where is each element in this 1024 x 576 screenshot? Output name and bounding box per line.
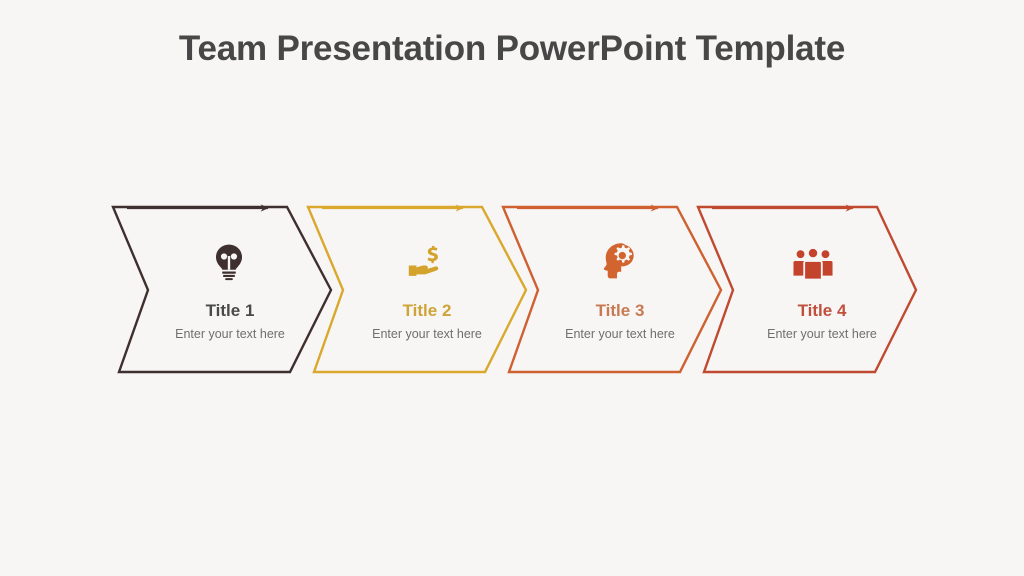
- step-description-1: Enter your text here: [130, 325, 330, 343]
- chevron-shape-step-1[interactable]: [113, 207, 331, 372]
- step-description-3: Enter your text here: [520, 325, 720, 343]
- step-text-2: Title 2 Enter your text here: [327, 299, 527, 343]
- chevron-shape-step-3[interactable]: [503, 207, 721, 372]
- head-gear-icon: [597, 240, 641, 284]
- step-title-1: Title 1: [130, 299, 330, 323]
- step-title-3: Title 3: [520, 299, 720, 323]
- step-text-3: Title 3 Enter your text here: [520, 299, 720, 343]
- step-text-1: Title 1 Enter your text here: [130, 299, 330, 343]
- step-title-4: Title 4: [722, 299, 922, 323]
- hand-holding-dollar-icon: [404, 242, 448, 286]
- chevron-shape-step-2[interactable]: [308, 207, 526, 372]
- chevron-shape-step-4[interactable]: [698, 207, 916, 372]
- people-group-icon: [791, 243, 835, 287]
- step-description-4: Enter your text here: [722, 325, 922, 343]
- chevron-process-diagram: Title 1 Enter your text here Title 2 Ent…: [0, 0, 1024, 576]
- step-description-2: Enter your text here: [327, 325, 527, 343]
- step-text-4: Title 4 Enter your text here: [722, 299, 922, 343]
- lightbulb-icon: [207, 240, 251, 284]
- slide-canvas: Team Presentation PowerPoint Template: [0, 0, 1024, 576]
- step-title-2: Title 2: [327, 299, 527, 323]
- chevron-shapes-svg: [0, 0, 1024, 576]
